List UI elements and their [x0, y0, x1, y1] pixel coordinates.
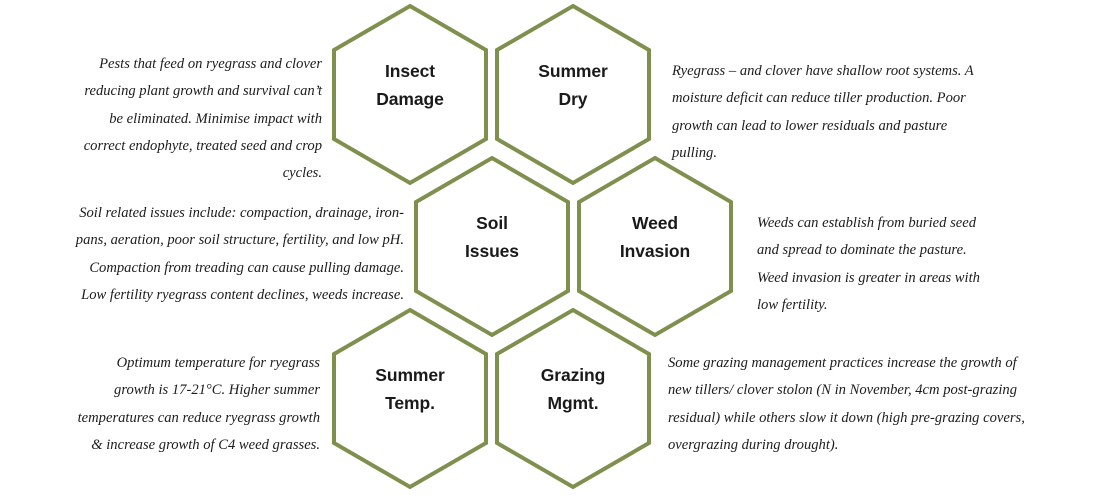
note-weed-invasion: Weeds can establish from buried seed and… — [757, 210, 1057, 319]
note-line: and spread to dominate the pasture. — [757, 237, 1057, 264]
note-line: & increase growth of C4 weed grasses. — [8, 432, 320, 459]
note-line: Compaction from treading can cause pulli… — [8, 255, 404, 282]
note-line: pulling. — [672, 140, 1076, 167]
hexagon-label-soil-issues[interactable]: Soil Issues — [415, 209, 569, 266]
note-line: Soil related issues include: compaction,… — [8, 200, 404, 227]
hexagon-label-insect-damage[interactable]: Insect Damage — [333, 57, 487, 114]
hexagon-label-summer-dry[interactable]: Summer Dry — [496, 57, 650, 114]
note-grazing-mgmt: Some grazing management practices increa… — [668, 350, 1092, 459]
note-line: low fertility. — [757, 292, 1057, 319]
hexagon-label-line2: Issues — [415, 237, 569, 265]
note-summer-dry: Ryegrass – and clover have shallow root … — [672, 58, 1076, 167]
note-line: reducing plant growth and survival can’t — [10, 78, 322, 105]
hexagon-label-line2: Damage — [333, 85, 487, 113]
note-line: moisture deficit can reduce tiller produ… — [672, 85, 1076, 112]
note-line: overgrazing during drought). — [668, 432, 1092, 459]
note-line: Weed invasion is greater in areas with — [757, 265, 1057, 292]
hexagon-label-line2: Temp. — [333, 389, 487, 417]
hexagon-label-grazing-mgmt[interactable]: Grazing Mgmt. — [496, 361, 650, 418]
note-line: Some grazing management practices increa… — [668, 350, 1092, 377]
note-soil-issues: Soil related issues include: compaction,… — [8, 200, 404, 309]
note-summer-temp: Optimum temperature for ryegrass growth … — [8, 350, 320, 459]
note-line: Low fertility ryegrass content declines,… — [8, 282, 404, 309]
note-line: growth is 17-21°C. Higher summer — [8, 377, 320, 404]
hexagon-label-line2: Mgmt. — [496, 389, 650, 417]
note-line: Weeds can establish from buried seed — [757, 210, 1057, 237]
note-line: Ryegrass – and clover have shallow root … — [672, 58, 1076, 85]
note-line: growth can lead to lower residuals and p… — [672, 113, 1076, 140]
note-line: pans, aeration, poor soil structure, fer… — [8, 227, 404, 254]
note-line: residual) while others slow it down (hig… — [668, 405, 1092, 432]
note-line: Optimum temperature for ryegrass — [8, 350, 320, 377]
hexagon-label-summer-temp[interactable]: Summer Temp. — [333, 361, 487, 418]
hexagon-label-line2: Dry — [496, 85, 650, 113]
note-insect-damage: Pests that feed on ryegrass and clover r… — [10, 51, 322, 187]
hexagon-label-line1: Soil — [415, 209, 569, 237]
hexagon-label-line1: Summer — [496, 57, 650, 85]
note-line: cycles. — [10, 160, 322, 187]
hexagon-label-line2: Invasion — [578, 237, 732, 265]
note-line: Pests that feed on ryegrass and clover — [10, 51, 322, 78]
hexagon-label-line1: Grazing — [496, 361, 650, 389]
diagram-canvas: Insect Damage Summer Dry Soil Issues Wee… — [0, 0, 1100, 499]
hexagon-label-weed-invasion[interactable]: Weed Invasion — [578, 209, 732, 266]
note-line: be eliminated. Minimise impact with — [10, 106, 322, 133]
note-line: temperatures can reduce ryegrass growth — [8, 405, 320, 432]
hexagon-label-line1: Weed — [578, 209, 732, 237]
note-line: correct endophyte, treated seed and crop — [10, 133, 322, 160]
note-line: new tillers/ clover stolon (N in Novembe… — [668, 377, 1092, 404]
hexagon-label-line1: Summer — [333, 361, 487, 389]
hexagon-label-line1: Insect — [333, 57, 487, 85]
